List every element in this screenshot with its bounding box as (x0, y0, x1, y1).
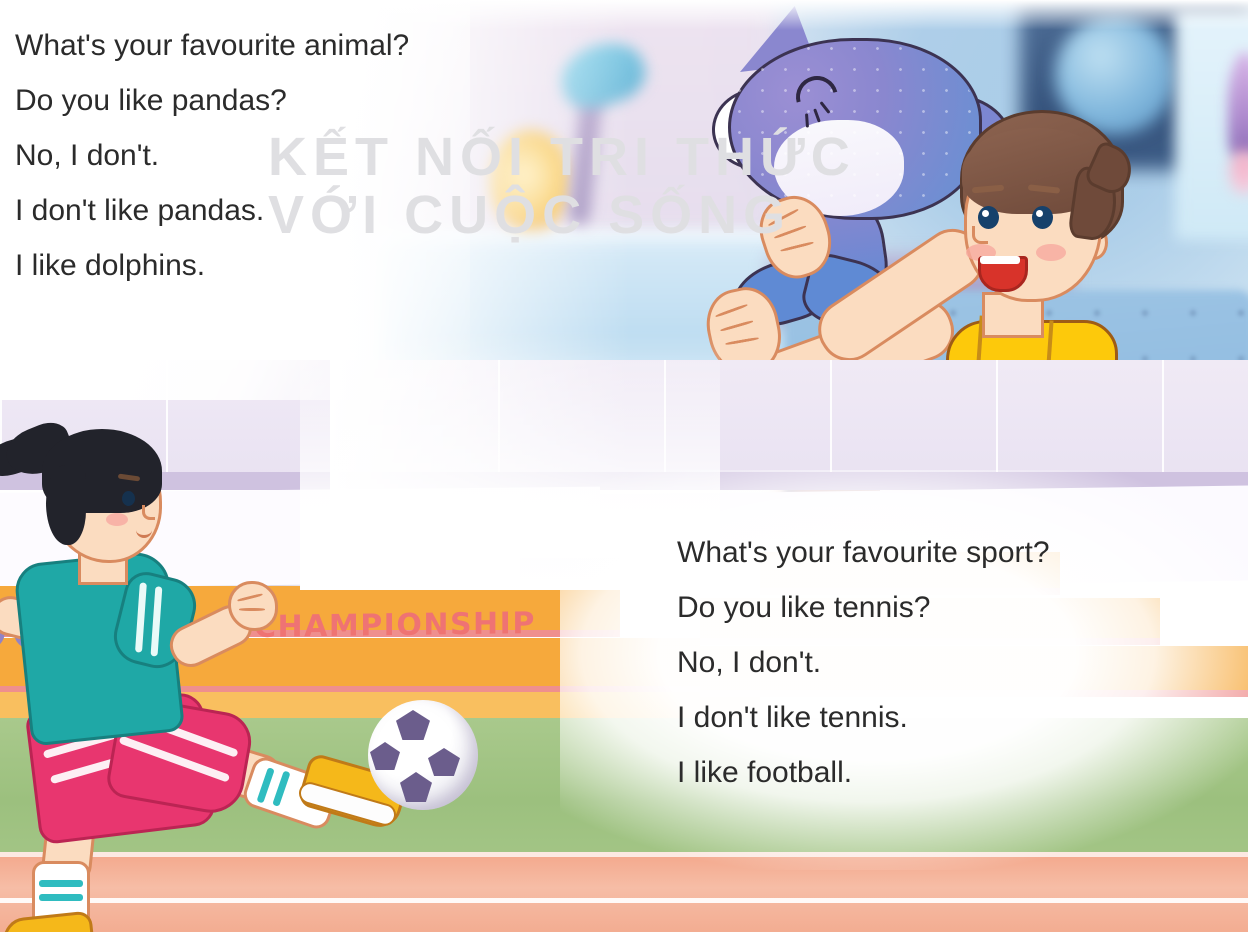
ball-panel (400, 772, 432, 802)
dialogue-animal-line-3: No, I don't. (15, 128, 409, 183)
jersey-stripe (135, 582, 147, 652)
finger (720, 320, 754, 332)
dialogue-animal: What's your favourite animal? Do you lik… (15, 18, 409, 293)
boy-nose (972, 226, 988, 244)
dialogue-animal-line-4: I don't like pandas. (15, 183, 409, 238)
bleacher-step (520, 558, 640, 588)
finger (237, 593, 263, 602)
boy-eye-right (1032, 206, 1053, 229)
football-icon (368, 700, 478, 810)
sock-stripe (39, 880, 83, 887)
sock-stripe (272, 770, 290, 806)
girl-footballer-character (0, 405, 370, 905)
girl-hair-side (46, 465, 86, 545)
jersey-stripe (151, 586, 163, 656)
ball-panel (370, 742, 400, 770)
dialogue-sport-line-2: Do you like tennis? (677, 580, 1050, 635)
sock-stripe (256, 767, 274, 803)
boy-cheek-right (1036, 244, 1066, 261)
girl-cheek (106, 513, 128, 526)
finger (715, 303, 748, 317)
dialogue-animal-line-1: What's your favourite animal? (15, 18, 409, 73)
sock-stripe (39, 894, 83, 901)
girl-eye (122, 491, 135, 506)
dialogue-sport-line-3: No, I don't. (677, 635, 1050, 690)
finger (725, 337, 759, 346)
ball-panel (428, 748, 460, 776)
dialogue-animal-line-2: Do you like pandas? (15, 73, 409, 128)
dialogue-sport: What's your favourite sport? Do you like… (677, 525, 1050, 800)
textbook-page: OO ALL CHAMPIONSHIP (0, 0, 1248, 932)
girl-front-hand (228, 581, 278, 631)
girl-nose (142, 505, 155, 520)
dialogue-sport-line-5: I like football. (677, 745, 1050, 800)
finger (239, 608, 265, 611)
ball-panel (396, 710, 430, 740)
dialogue-animal-line-5: I like dolphins. (15, 238, 409, 293)
boy-teeth (980, 256, 1020, 264)
dialogue-sport-line-1: What's your favourite sport? (677, 525, 1050, 580)
dialogue-sport-line-4: I don't like tennis. (677, 690, 1050, 745)
